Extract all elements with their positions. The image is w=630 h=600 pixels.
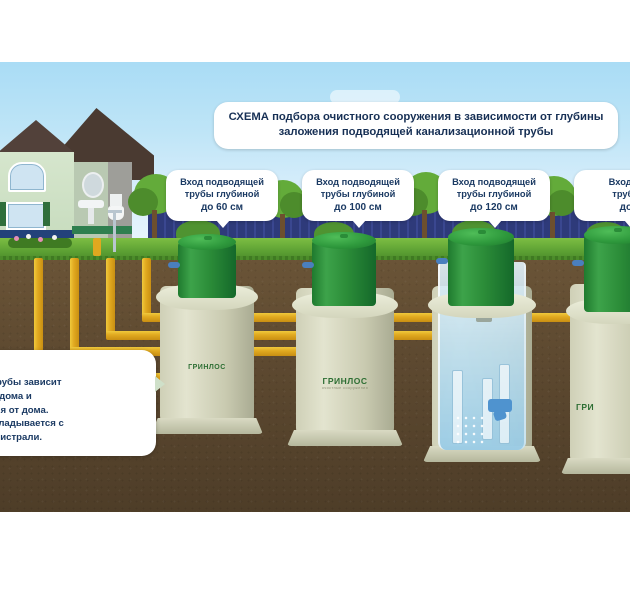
callout-60-line2: трубы глубиной [172,188,272,200]
title-line-1: СХЕМА подбора очистного сооружения в зав… [229,111,604,123]
callout-depth-120[interactable]: Вход подводящей трубы глубиной до 120 см [438,170,550,221]
pipe-vertical-3 [106,258,115,338]
unit-1-riser [178,242,236,298]
artboard: ГРИНЛОС ГРИНЛОС очистные сооружения [0,62,630,512]
sink-icon [78,200,104,208]
unit-4-inlet [572,260,584,266]
callout-120-line3: до 120 см [444,201,544,214]
callout-140-line3: до 1 [580,201,630,214]
note-line-1: дводящей трубы зависит [0,376,144,390]
callout-100-line1: Вход подводящей [308,176,408,188]
unit-4-riser [584,234,630,312]
note-line-2: гистрали из дома и [0,390,144,404]
callout-60-line3: до 60 см [172,201,272,214]
pipe-vertical-2 [70,258,79,354]
unit-2-logo-text: ГРИНЛОС [323,376,368,386]
toilet-icon [108,206,124,220]
callout-depth-60[interactable]: Вход подводящей трубы глубиной до 60 см [166,170,278,221]
callout-depth-140[interactable]: Вход под трубы г до 1 [574,170,630,221]
unit-2-riser [312,240,376,306]
flower-icon [38,237,43,242]
note-line-4: страль прокладывается с [0,417,144,431]
shutter-icon [43,202,50,226]
pipe-vertical-4 [142,258,151,320]
treatment-unit-3-cutaway[interactable] [432,232,532,454]
unit-3-inlet [436,258,448,264]
callout-60-line1: Вход подводящей [172,176,272,188]
shutter-icon [0,202,6,226]
callout-depth-100[interactable]: Вход подводящей трубы глубиной до 100 см [302,170,414,221]
callout-120-line2: трубы глубиной [444,188,544,200]
title-banner: СХЕМА подбора очистного сооружения в зав… [214,102,618,149]
toilet-tank-icon [110,194,122,206]
unit-2-inlet [302,262,314,268]
window-arch-icon [8,162,46,192]
post-arm [108,210,122,213]
sink-pedestal-icon [88,208,94,224]
bathroom-floor [72,226,132,234]
treatment-unit-2[interactable]: ГРИНЛОС очистные сооружения [296,234,394,438]
unit-4-logo: ГРИ [570,402,630,412]
flower-icon [26,234,31,239]
flower-icon [52,235,57,240]
treatment-unit-1[interactable]: ГРИНЛОС [160,236,254,426]
note-box[interactable]: РИНЛОС дводящей трубы зависит гистрали и… [0,350,156,456]
callout-140-line2: трубы г [580,188,630,200]
callout-100-line2: трубы глубиной [308,188,408,200]
callout-140-line1: Вход под [580,176,630,188]
treatment-unit-4[interactable]: ГРИ [570,230,630,466]
mirror-icon [82,172,104,198]
bottom-margin [0,512,630,600]
note-box-brand: РИНЛОС [0,359,144,371]
note-line-5: огонный магистрали. [0,431,144,445]
flower-icon [14,236,19,241]
unit-3-riser [448,236,514,306]
unit-2-logo-sub: очистные сооружения [296,386,394,390]
note-line-3: о сооружения от дома. [0,404,144,418]
post [113,212,116,252]
unit-2-logo: ГРИНЛОС очистные сооружения [296,376,394,390]
window-icon [6,202,46,230]
callout-120-line1: Вход подводящей [444,176,544,188]
poster-canvas: ГРИНЛОС ГРИНЛОС очистные сооружения [0,0,630,600]
unit-1-inlet [168,262,180,268]
callout-100-line3: до 100 см [308,201,408,214]
gable-roof-icon [0,120,76,154]
title-line-2: заложения подводящей канализационной тру… [279,126,554,138]
pipe-riser [93,238,101,256]
unit-1-logo: ГРИНЛОС [160,364,254,371]
